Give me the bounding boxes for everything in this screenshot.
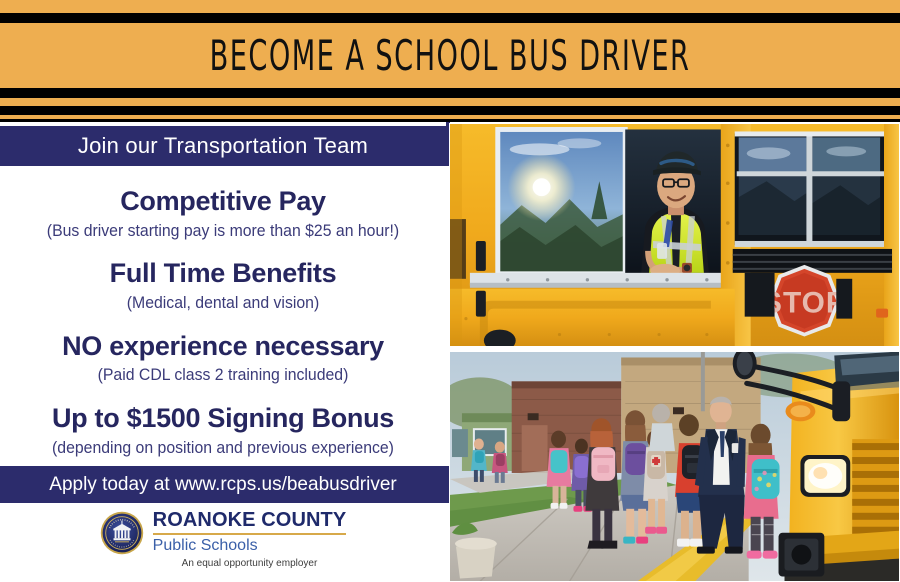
- benefit-title: Up to $1500 Signing Bonus: [0, 403, 446, 435]
- photo-bus-driver-in-window: STOP: [449, 123, 900, 347]
- photo-students-boarding-bus: [449, 351, 900, 582]
- benefits-list: Competitive Pay (Bus driver starting pay…: [0, 170, 446, 466]
- logo-public-schools-label: Public Schools: [153, 537, 347, 555]
- apply-today-link[interactable]: Apply today at www.rcps.us/beabusdriver: [49, 474, 396, 496]
- recruitment-poster: BECOME A SCHOOL BUS DRIVER Join our Tran…: [0, 0, 900, 582]
- logo-district-name: ROANOKE COUNTY: [153, 510, 347, 531]
- benefit-subtitle: (Medical, dental and vision): [16, 293, 431, 313]
- left-content-column: Join our Transportation Team Competitive…: [0, 122, 446, 582]
- benefit-item: Full Time Benefits (Medical, dental and …: [0, 258, 446, 313]
- header-stripe-bottom-2: [0, 106, 900, 115]
- equal-opportunity-statement: An equal opportunity employer: [153, 558, 347, 569]
- logo-inner: ROANOKE COUNTY Public Schools An equal o…: [100, 510, 347, 569]
- benefit-subtitle: (depending on position and previous expe…: [16, 438, 431, 458]
- apply-today-banner[interactable]: Apply today at www.rcps.us/beabusdriver: [0, 466, 446, 503]
- join-team-banner: Join our Transportation Team: [0, 126, 446, 166]
- benefit-item: Up to $1500 Signing Bonus (depending on …: [0, 403, 446, 458]
- svg-text:STOP: STOP: [762, 287, 847, 320]
- poster-header: BECOME A SCHOOL BUS DRIVER: [0, 0, 900, 122]
- logo-divider-rule: [153, 533, 347, 535]
- benefit-subtitle: (Bus driver starting pay is more than $2…: [16, 221, 431, 241]
- benefit-title: Competitive Pay: [0, 186, 446, 218]
- benefit-subtitle: (Paid CDL class 2 training included): [16, 365, 431, 385]
- header-stripe-bottom-1: [0, 88, 900, 98]
- page-title: BECOME A SCHOOL BUS DRIVER: [126, 24, 774, 86]
- benefit-item: NO experience necessary (Paid CDL class …: [0, 331, 446, 386]
- header-stripe-top: [0, 13, 900, 23]
- benefit-title: Full Time Benefits: [0, 258, 446, 290]
- join-team-banner-label: Join our Transportation Team: [78, 133, 368, 159]
- roanoke-county-seal-icon: [100, 511, 144, 555]
- logo-wordmark: ROANOKE COUNTY Public Schools An equal o…: [153, 510, 347, 569]
- district-logo: ROANOKE COUNTY Public Schools An equal o…: [0, 510, 446, 582]
- benefit-item: Competitive Pay (Bus driver starting pay…: [0, 186, 446, 241]
- benefit-title: NO experience necessary: [0, 331, 446, 363]
